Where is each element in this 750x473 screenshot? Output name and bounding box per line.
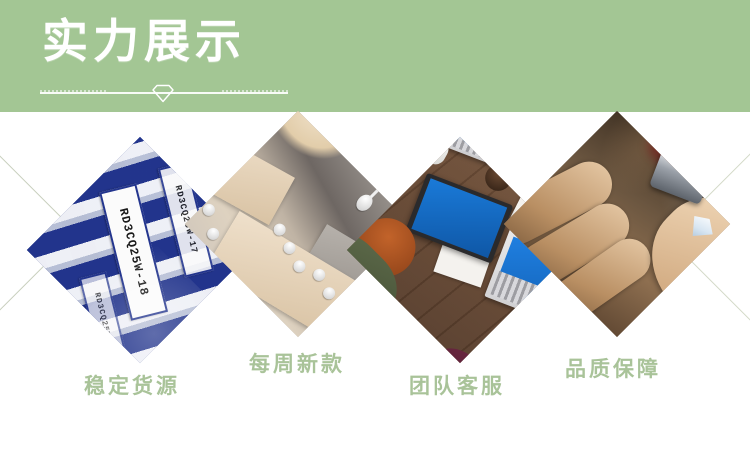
feature-image-quality-assurance[interactable] (504, 111, 730, 337)
ring-7 (205, 225, 222, 242)
gem-diamond-icon (152, 84, 174, 103)
feature-label-team-service: 团队客服 (409, 374, 505, 400)
pendant-chain-2 (237, 119, 264, 137)
features-stage: RD3CQ25W-17 RD3CQ25W-18 RD3CQ25W-19 稳定货源 (0, 112, 750, 473)
title-divider (40, 82, 288, 104)
jeweler-tool (649, 148, 714, 205)
banner-header: 实力展示 (0, 0, 750, 112)
person-body-purple (409, 338, 514, 363)
feature-label-quality-assurance: 品质保障 (565, 357, 661, 383)
hands-inspecting-gemstone-photo (504, 111, 730, 337)
divider-dash-left (40, 90, 106, 92)
pendant-chain (369, 169, 399, 199)
background-blur-object (642, 111, 714, 175)
promo-banner: 实力展示 RD3CQ25W-17 RD3CQ25W-18 RD3CQ25W-19 (0, 0, 750, 473)
feature-label-stable-supply: 稳定货源 (84, 374, 180, 400)
tray-wood-2 (207, 211, 369, 337)
divider-dash-right (222, 90, 288, 92)
tray-wood-1 (185, 120, 295, 225)
page-title: 实力展示 (42, 13, 246, 69)
feature-label-weekly-new: 每周新款 (249, 352, 345, 378)
person-arm-white (389, 137, 452, 168)
coffee-cup (480, 159, 517, 196)
